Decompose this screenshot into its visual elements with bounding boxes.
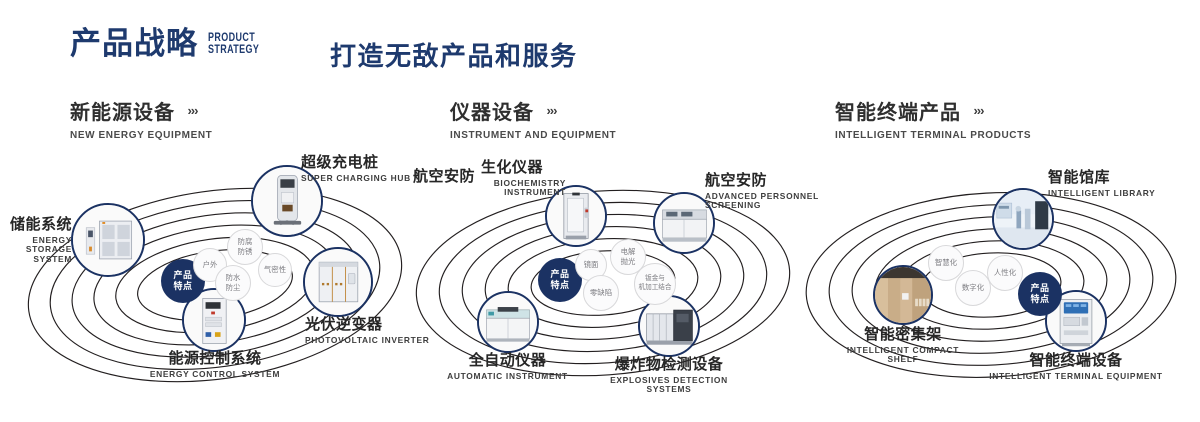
pv-inverter-cabinet-icon: [305, 249, 371, 315]
node-label-energy-control-system: 能源控制系统 ENERGY CONTROL SYSTEM: [130, 351, 300, 379]
node-label-cn: 全自动仪器: [425, 353, 590, 370]
badge-line-1: 产品: [173, 270, 192, 281]
badge-line-1: 产品: [1030, 283, 1049, 294]
bubble-line-1: 气密性: [264, 265, 286, 275]
compact-shelf-icon: [875, 267, 931, 323]
page-title-english: PRODUCT STRATEGY: [208, 32, 259, 59]
bubble-line-1: 钣金与: [645, 275, 665, 284]
section-heading-instrument: 仪器设备 ››› INSTRUMENT AND EQUIPMENT: [450, 96, 616, 141]
badge-line-2: 特点: [550, 280, 569, 291]
node-explosives-detection-systems[interactable]: [638, 295, 700, 357]
bubble-line-2: 抛光: [621, 257, 636, 267]
section-heading-english: NEW ENERGY EQUIPMENT: [70, 130, 212, 141]
node-label-intelligent-terminal-equipment: 智能终端设备 INTELLIGENT TERMINAL EQUIPMENT: [988, 353, 1164, 381]
bubble-line-1: 电解: [621, 247, 636, 257]
feature-bubble-humanized: 人性化: [987, 255, 1023, 291]
node-intelligent-compact-shelf[interactable]: [873, 265, 933, 325]
node-label-en: EXPLOSIVES DETECTION SYSTEMS: [589, 376, 749, 395]
feature-bubble-waterproof: 防水 防尘: [215, 265, 251, 301]
node-label-explosives-detection-systems: 爆炸物检测设备 EXPLOSIVES DETECTION SYSTEMS: [589, 357, 749, 395]
headline: 打造无敌产品和服务: [330, 36, 578, 73]
energy-storage-cabinet-icon: [73, 205, 143, 275]
bubble-line-2: 防锈: [238, 247, 253, 257]
page-header: 产品战略 PRODUCT STRATEGY: [70, 28, 274, 59]
node-automatic-instrument[interactable]: [477, 291, 539, 353]
node-label-cn: 智能馆库: [1048, 170, 1183, 187]
section-heading-new-energy: 新能源设备 ››› NEW ENERGY EQUIPMENT: [70, 96, 212, 141]
node-energy-storage-system[interactable]: [71, 203, 145, 277]
chevron-right-icon: ›››: [546, 103, 556, 118]
node-label-intelligent-compact-shelf: 智能密集架 INTELLIGENT COMPACT SHELF: [835, 327, 971, 365]
bubble-line-1: 户外: [203, 260, 218, 270]
side-label-cn: 航空安防: [403, 169, 475, 186]
node-label-en: INTELLIGENT COMPACT SHELF: [835, 346, 971, 365]
explosives-detector-icon: [640, 297, 698, 355]
badge-line-2: 特点: [173, 281, 192, 292]
node-label-cn: 储能系统: [0, 217, 72, 234]
chevron-right-icon: ›››: [187, 103, 197, 118]
diagram-cluster-intelligent-terminal: 智能馆库 INTELLIGENT LIBRARY 智能密集架 INTELLIGE…: [795, 155, 1195, 405]
node-label-en: ENERGY CONTROL SYSTEM: [130, 370, 300, 379]
node-label-cn: 智能终端设备: [988, 353, 1164, 370]
feature-bubble-zero-defect: 零缺陷: [583, 275, 619, 311]
side-label-aviation-security: 航空安防: [403, 169, 475, 186]
bubble-line-2: 防尘: [226, 283, 241, 293]
node-photovoltaic-inverter[interactable]: [303, 247, 373, 317]
node-label-intelligent-library: 智能馆库 INTELLIGENT LIBRARY: [1048, 170, 1183, 198]
section-heading-english: INSTRUMENT AND EQUIPMENT: [450, 130, 616, 141]
node-label-en: INTELLIGENT TERMINAL EQUIPMENT: [988, 372, 1164, 381]
diagram-cluster-new-energy: 储能系统 ENERGY STORAGE SYSTEM 超级充电桩 SUPER C…: [15, 155, 415, 405]
library-interior-icon: [994, 190, 1052, 248]
bubble-line-1: 防水: [226, 273, 241, 283]
section-heading-english: INTELLIGENT TERMINAL PRODUCTS: [835, 130, 1031, 141]
chevron-right-icon: ›››: [973, 103, 983, 118]
node-label-en: AUTOMATIC INSTRUMENT: [425, 372, 590, 381]
badge-line-1: 产品: [550, 269, 569, 280]
automatic-instrument-icon: [479, 293, 537, 351]
node-label-biochemistry-instrument: 生化仪器 BIOCHEMISTRY INSTRUMENT: [481, 160, 566, 198]
page-title: 产品战略: [70, 28, 198, 59]
feature-bubble-digital: 数字化: [955, 270, 991, 306]
node-intelligent-library[interactable]: [992, 188, 1054, 250]
node-label-cn: 爆炸物检测设备: [589, 357, 749, 374]
feature-bubble-anticorrosion: 防腐 防锈: [227, 229, 263, 265]
bubble-line-1: 镜面: [584, 260, 599, 270]
section-heading-label: 新能源设备: [70, 96, 175, 125]
bubble-line-2: 机加工结合: [639, 284, 672, 293]
node-label-en: INTELLIGENT LIBRARY: [1048, 189, 1183, 198]
node-label-cn: 智能密集架: [835, 327, 971, 344]
section-heading-label: 智能终端产品: [835, 96, 961, 125]
badge-line-2: 特点: [1030, 294, 1049, 305]
node-label-automatic-instrument: 全自动仪器 AUTOMATIC INSTRUMENT: [425, 353, 590, 381]
feature-bubble-sheetmetal-machining: 钣金与 机加工结合: [634, 263, 676, 305]
bubble-line-1: 零缺陷: [590, 288, 612, 298]
diagram-cluster-instrument: 航空安防 生化仪器 BIOCHEMISTRY INSTRUMENT 航空安防: [405, 155, 805, 405]
bubble-line-1: 防腐: [238, 237, 253, 247]
node-label-energy-storage-system: 储能系统 ENERGY STORAGE SYSTEM: [0, 217, 72, 264]
bubble-line-1: 智慧化: [935, 258, 957, 268]
feature-bubble-airtightness: 气密性: [258, 253, 292, 287]
center-badge-product-features: 产品 特点: [1018, 272, 1062, 316]
section-heading-intelligent-terminal: 智能终端产品 ››› INTELLIGENT TERMINAL PRODUCTS: [835, 96, 1031, 141]
section-heading-label: 仪器设备: [450, 96, 534, 125]
bubble-line-1: 数字化: [962, 283, 984, 293]
bubble-line-1: 人性化: [994, 268, 1016, 278]
node-label-en: ENERGY STORAGE SYSTEM: [0, 236, 72, 264]
node-label-cn: 生化仪器: [481, 160, 566, 177]
node-label-en: BIOCHEMISTRY INSTRUMENT: [481, 179, 566, 198]
node-label-cn: 能源控制系统: [130, 351, 300, 368]
